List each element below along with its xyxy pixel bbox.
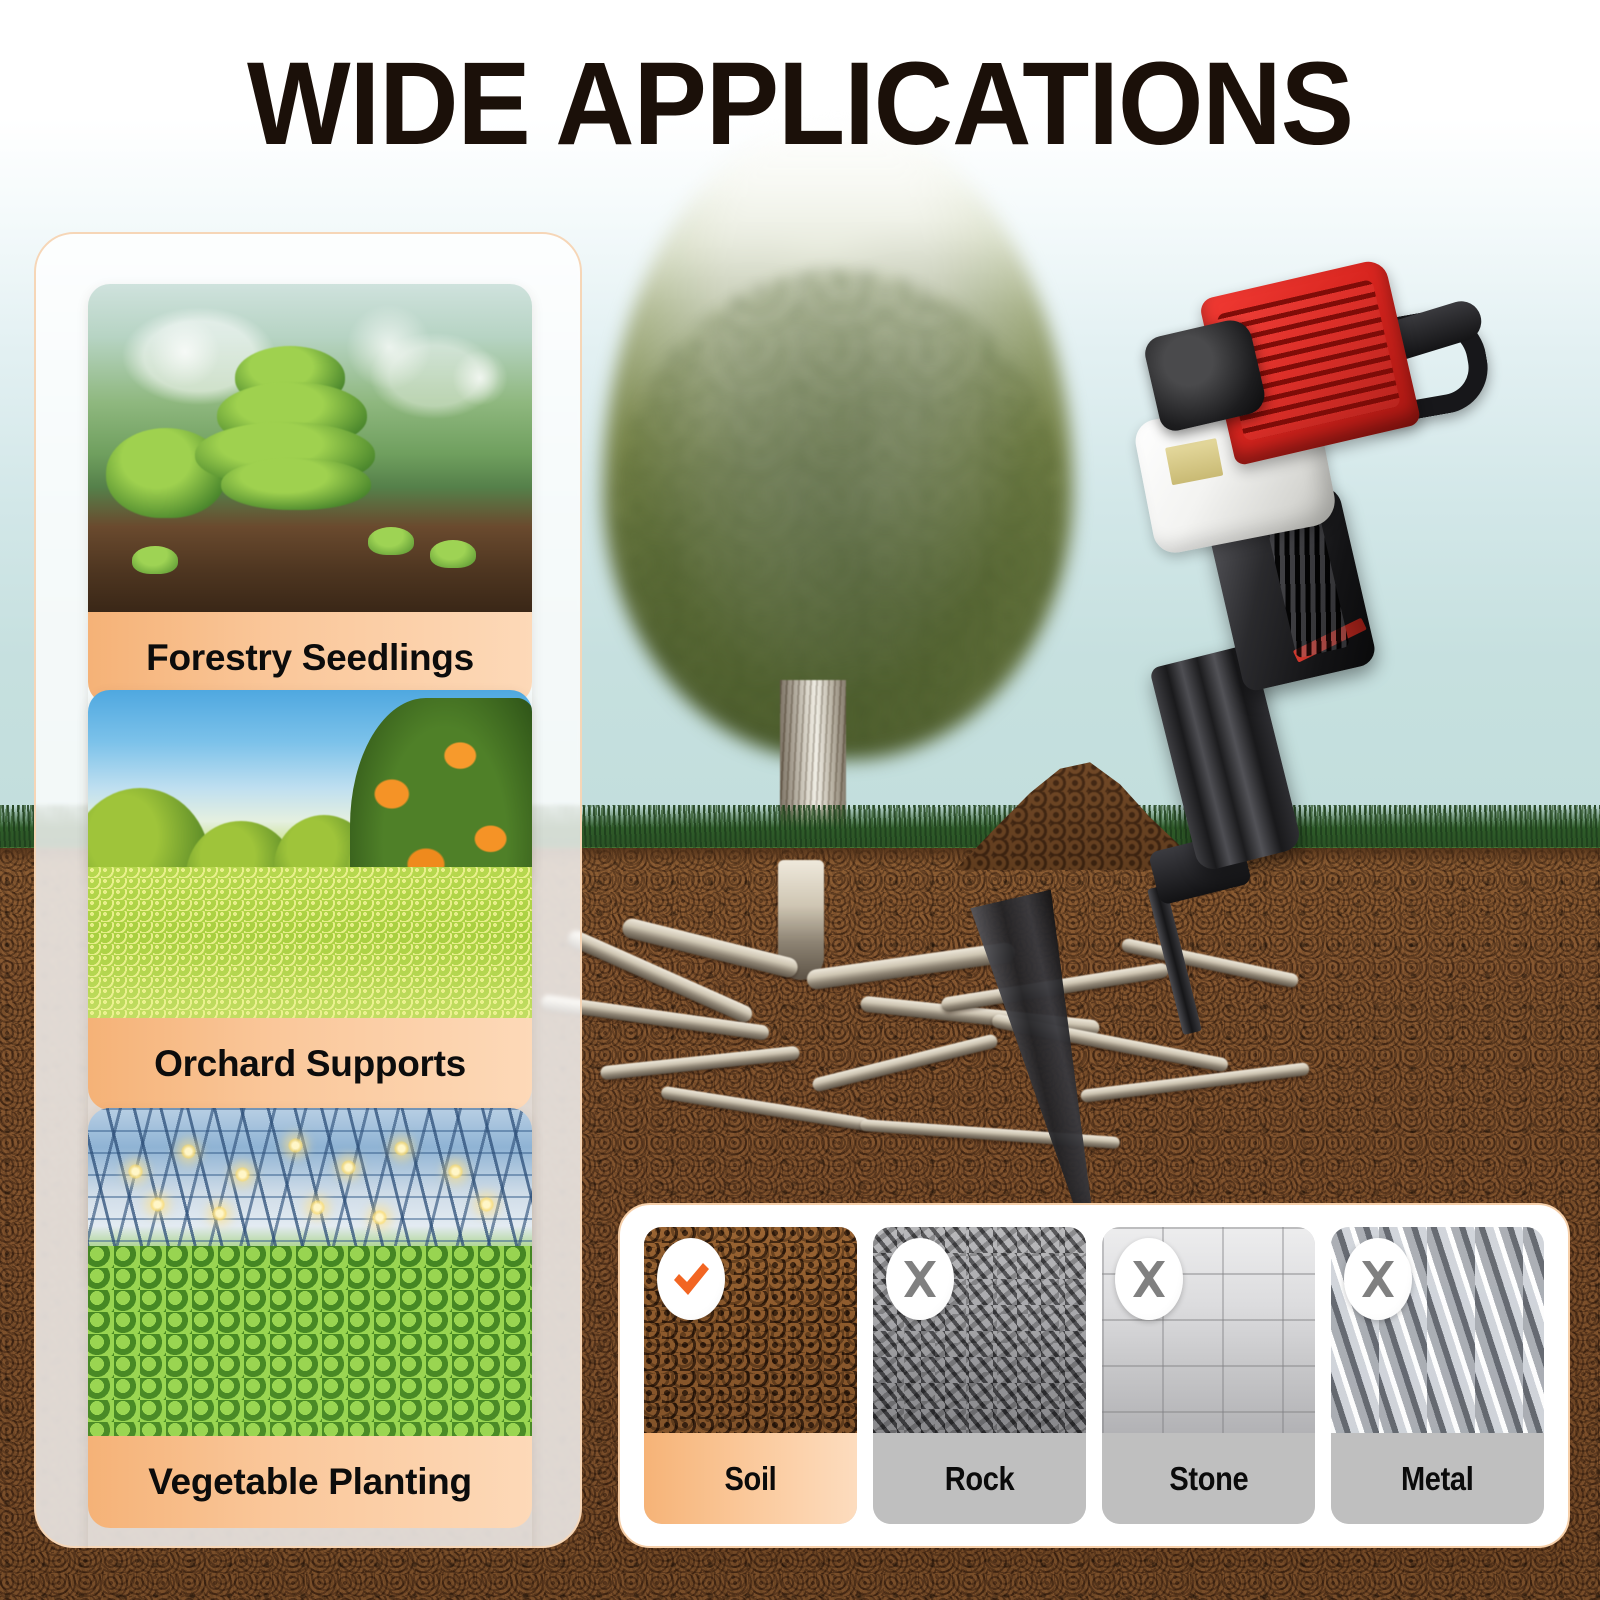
material-tile-metal[interactable]: Metal [1331, 1227, 1544, 1524]
material-caption: Stone [1102, 1433, 1315, 1524]
material-tile-soil[interactable]: Soil [644, 1227, 857, 1524]
material-caption: Metal [1331, 1433, 1544, 1524]
forestry-seedling-photo [88, 284, 532, 612]
brand-decal [1293, 618, 1367, 663]
application-card-label-text: Forestry Seedlings [146, 637, 474, 679]
page-title: WIDE APPLICATIONS [56, 42, 1544, 167]
material-caption: Soil [644, 1433, 857, 1524]
background-tree [585, 120, 1085, 860]
tree-canopy-texture [619, 270, 1059, 740]
application-card-label: Vegetable Planting [88, 1436, 532, 1528]
cross-icon [1115, 1238, 1183, 1320]
cross-icon [886, 1238, 954, 1320]
drive-rod [1147, 885, 1202, 1035]
application-card-label: Orchard Supports [88, 1018, 532, 1110]
greenhouse-photo [88, 1108, 532, 1436]
material-label: Metal [1401, 1460, 1473, 1498]
material-label: Stone [1169, 1460, 1248, 1498]
materials-panel: Soil Rock Stone [618, 1203, 1570, 1548]
materials-row: Soil Rock Stone [644, 1227, 1544, 1524]
material-label: Rock [945, 1460, 1015, 1498]
application-card[interactable]: Vegetable Planting [88, 1108, 532, 1600]
application-card-label-text: Vegetable Planting [148, 1461, 472, 1503]
orchard-photo [88, 690, 532, 1018]
material-tile-stone[interactable]: Stone [1102, 1227, 1315, 1524]
material-tile-rock[interactable]: Rock [873, 1227, 1086, 1524]
application-card-label-text: Orchard Supports [154, 1043, 466, 1085]
gas-post-driver [1115, 255, 1495, 1085]
check-icon [657, 1238, 725, 1320]
applications-panel: Forestry Seedlings Orchard Supports [34, 232, 582, 1548]
material-caption: Rock [873, 1433, 1086, 1524]
cross-icon [1344, 1238, 1412, 1320]
tank-warning-label [1165, 438, 1223, 485]
material-label: Soil [725, 1460, 777, 1498]
